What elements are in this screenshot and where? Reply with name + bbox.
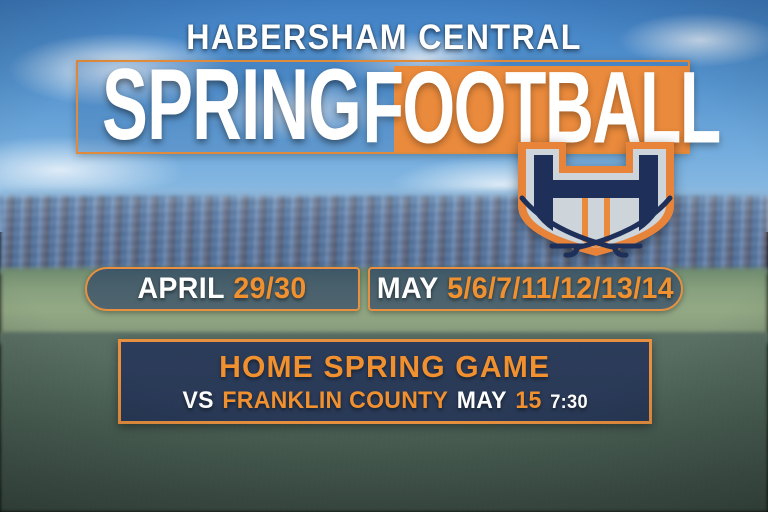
date-pill-may: MAY5/6/7/11/12/13/14 <box>368 267 683 311</box>
date-month-may: MAY <box>377 272 439 305</box>
date-pill-april: APRIL29/30 <box>85 267 360 311</box>
home-game-panel: HOME SPRING GAME VSFRANKLIN COUNTYMAY157… <box>118 339 652 424</box>
home-game-details: VSFRANKLIN COUNTYMAY157:30 <box>182 389 587 413</box>
spring-football-graphic: HABERSHAM CENTRAL SPRING FOOTBALL <box>0 0 768 512</box>
date-pill-april-text: APRIL29/30 <box>138 274 307 304</box>
home-game-time: 7:30 <box>550 392 588 413</box>
home-game-opponent: FRANKLIN COUNTY <box>222 387 448 414</box>
date-days-may: 5/6/7/11/12/13/14 <box>447 272 674 305</box>
home-game-heading: HOME SPRING GAME <box>219 351 550 382</box>
date-month-april: APRIL <box>138 272 225 305</box>
home-game-month: MAY <box>457 387 507 414</box>
home-game-day: 15 <box>515 387 541 414</box>
date-days-april: 29/30 <box>234 272 307 305</box>
home-game-vs-label: VS <box>182 387 213 414</box>
habersham-h-shield-sabers-logo <box>504 136 688 260</box>
headline-word-spring: SPRING <box>102 58 361 154</box>
date-pill-may-text: MAY5/6/7/11/12/13/14 <box>377 274 674 304</box>
